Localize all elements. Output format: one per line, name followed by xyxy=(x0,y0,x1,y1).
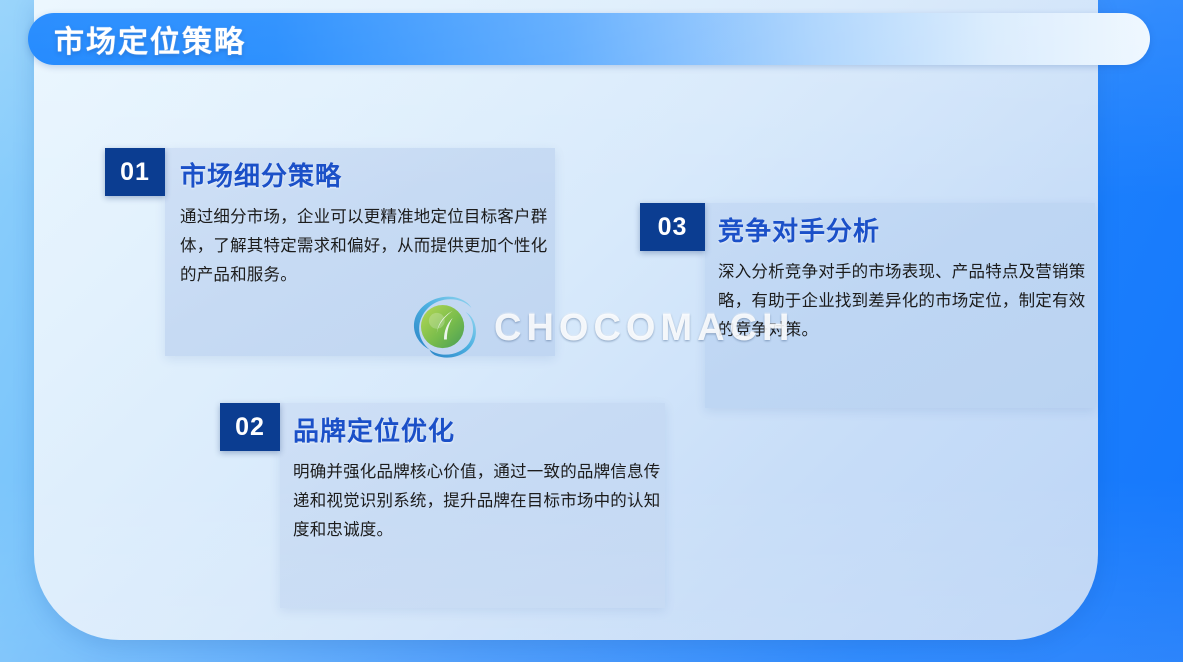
slide-header-bar: 市场定位策略 xyxy=(28,13,1150,65)
card-description: 深入分析竞争对手的市场表现、产品特点及营销策略，有助于企业找到差异化的市场定位，… xyxy=(718,258,1090,345)
card-heading: 市场细分策略 xyxy=(180,156,342,193)
card-description: 通过细分市场，企业可以更精准地定位目标客户群体，了解其特定需求和偏好，从而提供更… xyxy=(180,203,548,290)
card-heading: 品牌定位优化 xyxy=(293,411,455,448)
card-heading: 竞争对手分析 xyxy=(718,211,880,248)
page-title: 市场定位策略 xyxy=(54,17,246,61)
card-number-badge: 02 xyxy=(220,403,280,451)
card-description: 明确并强化品牌核心价值，通过一致的品牌信息传递和视觉识别系统，提升品牌在目标市场… xyxy=(293,458,661,545)
card-number-badge: 01 xyxy=(105,148,165,196)
slide-root: 市场定位策略 01 市场细分策略 通过细分市场，企业可以更精准地定位目标客户群体… xyxy=(0,0,1183,662)
card-number-badge: 03 xyxy=(640,203,705,251)
